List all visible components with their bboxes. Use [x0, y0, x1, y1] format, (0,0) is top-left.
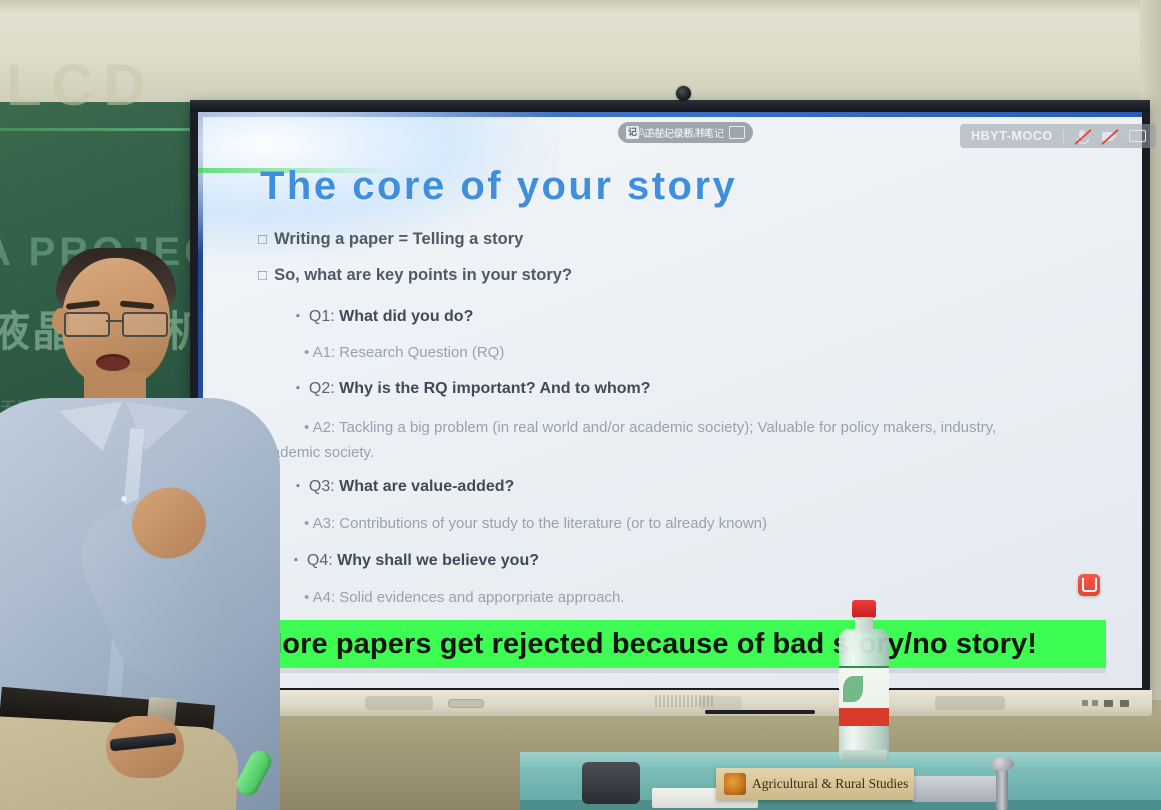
ir-sensor-strip: [448, 699, 484, 708]
presenter: [0, 230, 300, 810]
slide-bullet-2-text: So, what are key points in your story?: [274, 266, 572, 284]
display-bezel-slot: [705, 710, 815, 714]
slide-title: The core of your story: [260, 164, 737, 209]
desk-device-box: [582, 762, 640, 804]
slide-bullet-2: □So, what are key points in your story?: [258, 266, 572, 285]
classroom-upper-wall: [0, 0, 1161, 108]
q3-label: Q3:: [309, 478, 335, 495]
question-q1: ▪Q1: What did you do?: [296, 308, 473, 326]
q1-text: What did you do?: [339, 308, 473, 325]
speaker-grille-right: [935, 696, 1005, 710]
cast-screen-icon[interactable]: [729, 126, 745, 139]
desk-tray: [912, 776, 998, 802]
display-camera-icon: [676, 86, 691, 101]
display-indicator-leds: [1082, 699, 1140, 707]
shirt-button: [121, 496, 127, 502]
presenter-mouth: [96, 354, 130, 371]
recording-pill-label: 正在记录板书笔记: [644, 125, 724, 140]
desk-nameplate: Agricultural & Rural Studies: [716, 768, 914, 800]
slide-bullet-1-text: Writing a paper = Telling a story: [274, 230, 523, 248]
screenshot-stage: A PROJECTOR 液晶投影机 无输入 LCD The core of yo…: [0, 0, 1161, 810]
q2-label: Q2:: [309, 380, 335, 397]
record-note-icon: 记: [626, 126, 639, 139]
question-q3: ▪Q3: What are value-added?: [296, 478, 514, 496]
pill-divider: [1063, 130, 1064, 143]
ceiling-shadow: [0, 0, 1161, 14]
nameplate-text: Agricultural & Rural Studies: [752, 776, 908, 792]
q1-label: Q1:: [309, 308, 335, 325]
q2-text: Why is the RQ important? And to whom?: [339, 380, 650, 397]
meeting-status-pill[interactable]: HBYT-MOCO: [960, 124, 1156, 148]
q4-label: Q4:: [307, 552, 333, 569]
speaker-grille-left: [365, 696, 433, 710]
answer-a4: • A4: Solid evidences and apporpriate ap…: [304, 589, 624, 606]
bottle-base: [841, 750, 887, 762]
meeting-room-id: HBYT-MOCO: [971, 129, 1053, 143]
mic-muted-icon[interactable]: [1074, 129, 1091, 144]
bottle-cap: [852, 600, 876, 618]
banner-shadow: [254, 668, 1106, 673]
share-screen-icon[interactable]: [1128, 129, 1145, 144]
poster-lcd-word: LCD: [6, 52, 155, 119]
water-bottle: [835, 600, 893, 760]
q3-text: What are value-added?: [339, 478, 514, 495]
poster-green-line: [0, 128, 196, 131]
desk-microphone: [996, 766, 1008, 810]
answer-a1: • A1: Research Question (RQ): [304, 344, 504, 361]
question-q2: ▪Q2: Why is the RQ important? And to who…: [296, 380, 651, 398]
display-top-bezel: [190, 100, 1150, 112]
presenter-glasses: [62, 312, 174, 334]
answer-a3: • A3: Contributions of your study to the…: [304, 515, 767, 532]
nameplate-logo-icon: [724, 773, 746, 795]
highlighted-banner-text: More papers get rejected because of bad …: [254, 628, 1037, 661]
display-brand-logo: [655, 695, 715, 707]
highlighted-banner: More papers get rejected because of bad …: [254, 620, 1106, 668]
recording-status-pill[interactable]: BAAW-CPJM 记 正在记录板书笔记: [618, 122, 753, 143]
answer-a2: • A2: Tackling a big problem (in real wo…: [256, 415, 1056, 465]
camera-muted-icon[interactable]: [1101, 129, 1118, 144]
bottle-label: [839, 666, 889, 726]
presentation-slide[interactable]: The core of your story □Writing a paper …: [198, 112, 1142, 688]
question-q4: ▪Q4: Why shall we believe you?: [294, 552, 539, 570]
wps-recorder-icon[interactable]: [1078, 574, 1100, 596]
q4-text: Why shall we believe you?: [337, 552, 539, 569]
